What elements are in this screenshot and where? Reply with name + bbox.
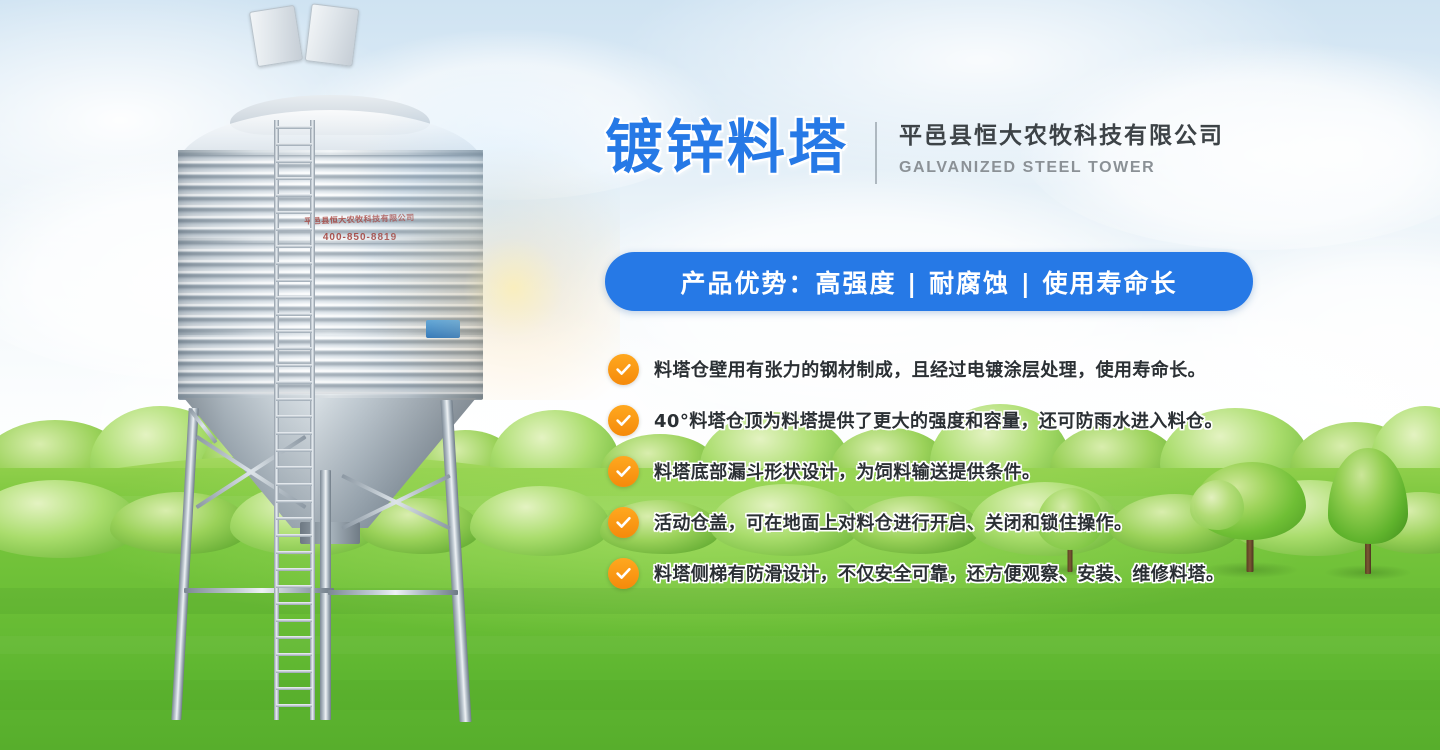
check-circle-icon bbox=[608, 456, 639, 487]
feature-list: 料塔仓壁用有张力的钢材制成，且经过电镀涂层处理，使用寿命长。40°料塔仓顶为料塔… bbox=[608, 352, 1308, 607]
check-circle-icon bbox=[608, 507, 639, 538]
company-name: 平邑县恒大农牧科技有限公司 bbox=[899, 122, 1224, 151]
check-circle-icon bbox=[608, 354, 639, 385]
hero-banner: 平邑县恒大农牧科技有限公司 400-850-8819 镀锌料塔 平邑县恒大 bbox=[0, 0, 1440, 750]
feature-text: 料塔仓壁用有张力的钢材制成，且经过电镀涂层处理，使用寿命长。 bbox=[654, 356, 1206, 382]
feature-item: 料塔底部漏斗形状设计，为饲料输送提供条件。 bbox=[608, 454, 1308, 488]
feature-text: 料塔底部漏斗形状设计，为饲料输送提供条件。 bbox=[654, 458, 1040, 484]
advantage-banner-text: 产品优势：高强度 | 耐腐蚀 | 使用寿命长 bbox=[680, 264, 1177, 300]
feature-text: 活动仓盖，可在地面上对料仓进行开启、关闭和锁住操作。 bbox=[654, 509, 1132, 535]
title-divider bbox=[875, 122, 877, 184]
feature-text: 40°料塔仓顶为料塔提供了更大的强度和容量，还可防雨水进入料仓。 bbox=[654, 407, 1223, 433]
title-block: 镀锌料塔 平邑县恒大农牧科技有限公司 GALVANIZED STEEL TOWE… bbox=[605, 118, 1224, 184]
feature-text: 料塔侧梯有防滑设计，不仅安全可靠，还方便观察、安装、维修料塔。 bbox=[654, 560, 1224, 586]
check-circle-icon bbox=[608, 558, 639, 589]
feature-item: 料塔侧梯有防滑设计，不仅安全可靠，还方便观察、安装、维修料塔。 bbox=[608, 556, 1308, 590]
page-title: 镀锌料塔 bbox=[605, 118, 849, 176]
check-circle-icon bbox=[608, 405, 639, 436]
company-subtitle: GALVANIZED STEEL TOWER bbox=[899, 159, 1224, 177]
feature-item: 活动仓盖，可在地面上对料仓进行开启、关闭和锁住操作。 bbox=[608, 505, 1308, 539]
feature-item: 40°料塔仓顶为料塔提供了更大的强度和容量，还可防雨水进入料仓。 bbox=[608, 403, 1308, 437]
feature-item: 料塔仓壁用有张力的钢材制成，且经过电镀涂层处理，使用寿命长。 bbox=[608, 352, 1308, 386]
advantage-banner: 产品优势：高强度 | 耐腐蚀 | 使用寿命长 bbox=[605, 252, 1253, 311]
